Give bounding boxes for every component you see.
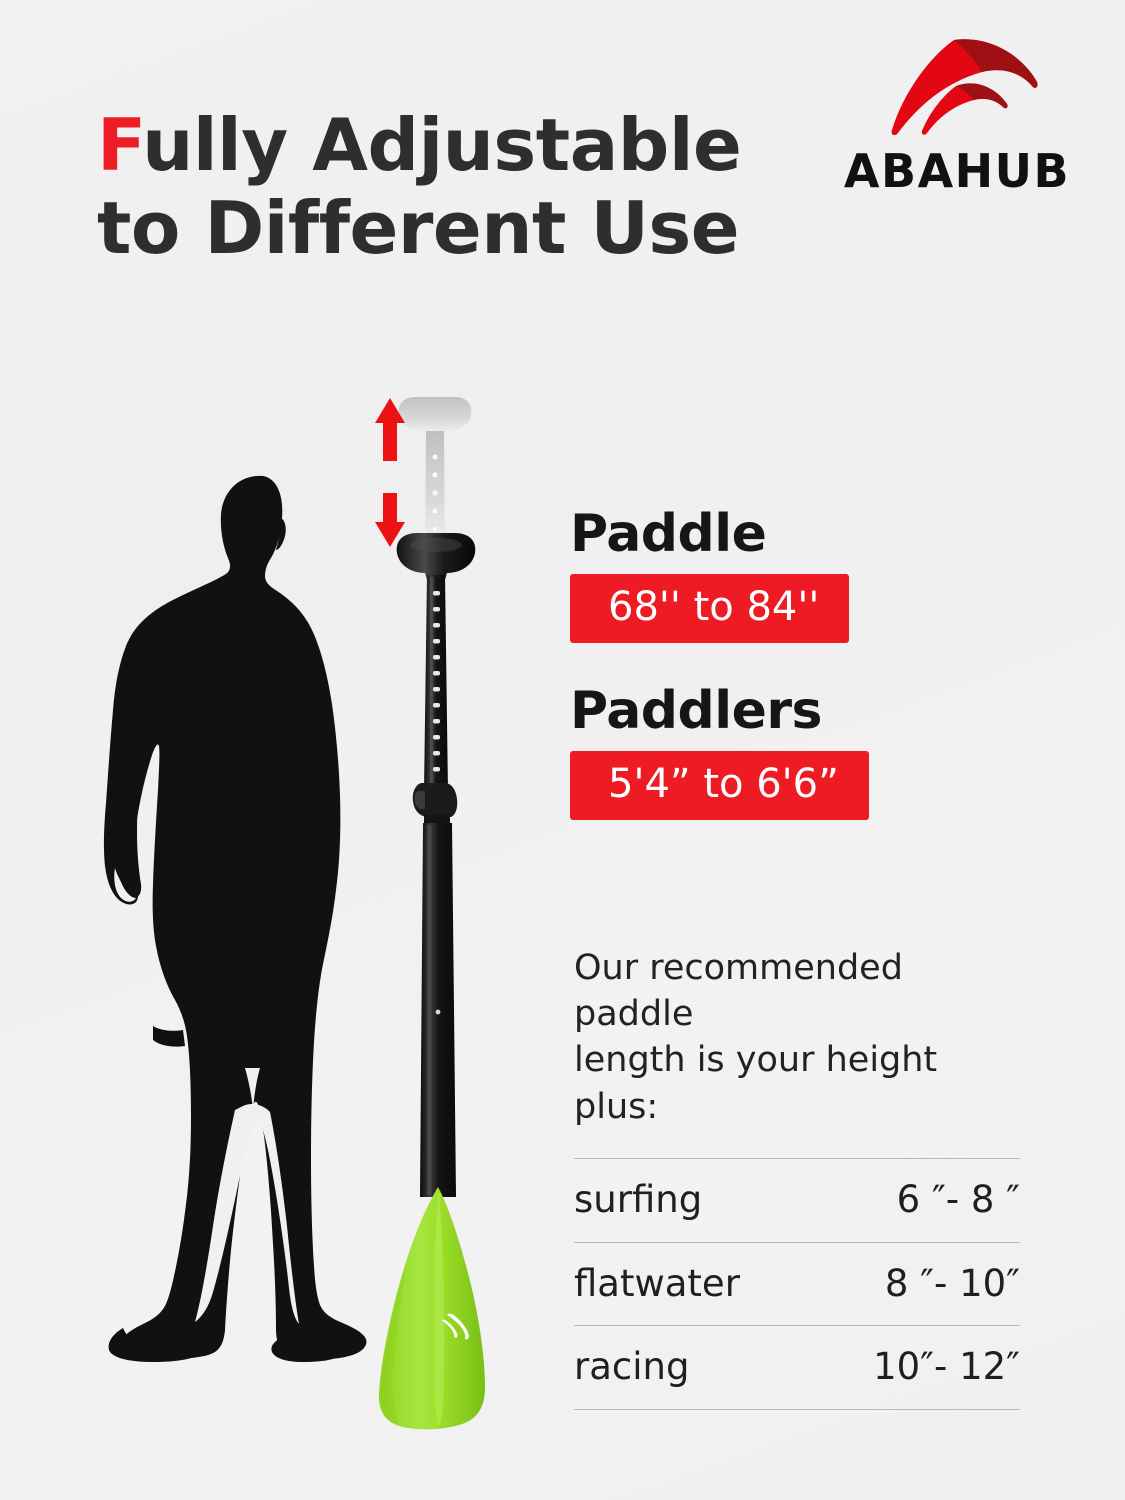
- range-value: 6 ″- 8 ″: [814, 1158, 1020, 1242]
- spec-paddlers-title: Paddlers: [570, 685, 869, 737]
- adjustable-sup-paddle: ABAHUB: [355, 375, 530, 1430]
- shaft-clamp-lever: [413, 783, 457, 825]
- recommendation-intro-line1: Our recommended paddle: [574, 948, 903, 1034]
- arrow-down-icon: [375, 493, 405, 547]
- abahub-chevron-icon: [866, 36, 1051, 136]
- paddle-lower-shaft: [420, 823, 456, 1197]
- recommendation-table: surfing 6 ″- 8 ″ flatwater 8 ″- 10″ raci…: [574, 1158, 1020, 1411]
- range-value: 10″- 12″: [814, 1326, 1020, 1410]
- headline-initial: F: [97, 103, 142, 187]
- page-title: Fully Adjustable to Different Use: [97, 104, 797, 270]
- spec-paddlers: Paddlers 5'4” to 6'6”: [570, 685, 869, 820]
- infographic-canvas: Fully Adjustable to Different Use ABAHUB: [0, 0, 1125, 1500]
- activity-label: flatwater: [574, 1242, 814, 1326]
- recommendation-intro-line2: length is your height plus:: [574, 1040, 937, 1126]
- table-row: surfing 6 ″- 8 ″: [574, 1158, 1020, 1242]
- spec-paddle: Paddle 68'' to 84'': [570, 508, 849, 643]
- table-row: racing 10″- 12″: [574, 1326, 1020, 1410]
- paddle-blade: [379, 1187, 485, 1429]
- recommendation-block: Our recommended paddle length is your he…: [574, 945, 1024, 1410]
- spec-paddlers-value-badge: 5'4” to 6'6”: [570, 751, 869, 820]
- recommendation-intro: Our recommended paddle length is your he…: [574, 945, 1024, 1130]
- spec-paddle-title: Paddle: [570, 508, 849, 560]
- headline-line1-rest: ully Adjustable: [142, 103, 741, 187]
- brand-wordmark: ABAHUB: [838, 144, 1076, 198]
- range-value: 8 ″- 10″: [814, 1242, 1020, 1326]
- headline-line2: to Different Use: [97, 187, 797, 270]
- activity-label: racing: [574, 1326, 814, 1410]
- activity-label: surfing: [574, 1158, 814, 1242]
- spec-paddle-value-badge: 68'' to 84'': [570, 574, 849, 643]
- paddle-upper-shaft: [424, 575, 448, 793]
- brand-logo: ABAHUB: [838, 36, 1076, 196]
- table-row: flatwater 8 ″- 10″: [574, 1242, 1020, 1326]
